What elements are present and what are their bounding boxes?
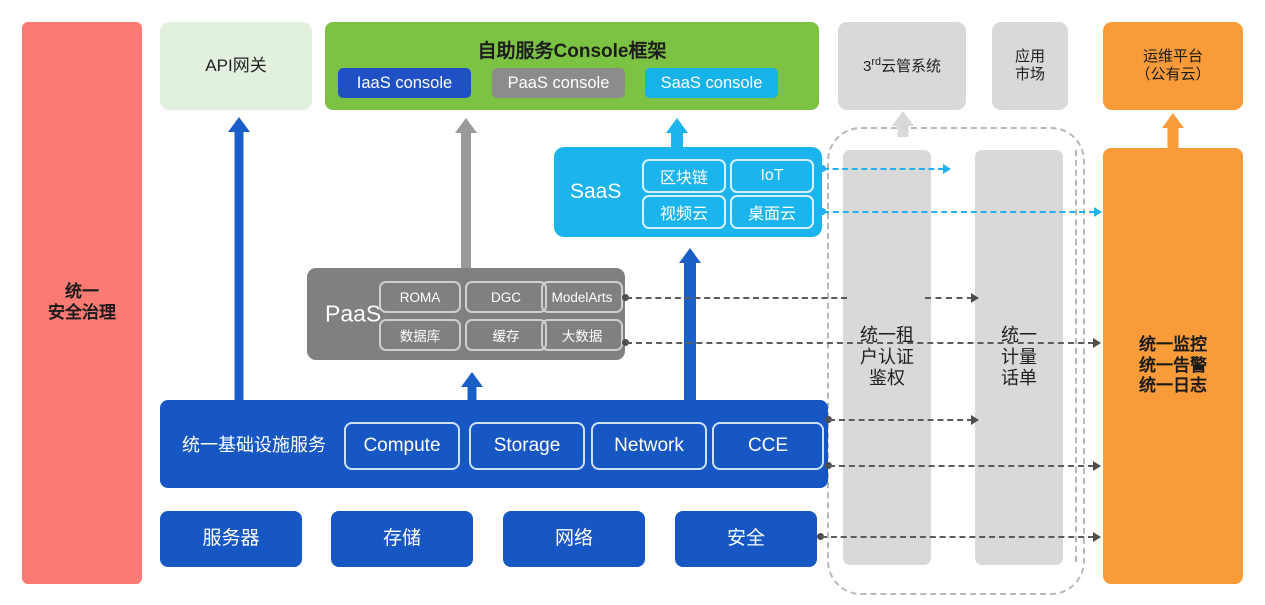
billing-line-3: 话单 [1001,368,1037,390]
app-market-line-2: 市场 [1015,66,1045,84]
saas-service-label: 桌面云 [748,200,796,224]
api-gateway-label: API网关 [205,56,266,77]
arrow-head-icon [943,164,951,174]
arrow-head-icon [1094,207,1102,217]
dashed-line-hardware-to-ops [821,536,1094,538]
saas-console-label: SaaS console [661,74,763,93]
self-service-console-frame: 自助服务Console框架 IaaS console PaaS console … [325,22,819,110]
saas-service-label: 区块链 [660,164,708,188]
infra-service-label: Compute [363,435,440,457]
paas-service-bigdata[interactable]: 大数据 [541,319,623,351]
paas-block-label: PaaS [325,301,381,328]
paas-service-dgc[interactable]: DGC [465,281,547,313]
hardware-label: 安全 [727,527,765,550]
infra-service-cce[interactable]: CCE [712,422,824,470]
ordinal-suffix: rd [871,56,881,68]
infra-service-network[interactable]: Network [591,422,707,470]
dashed-line-paas-to-auth [626,297,847,299]
saas-block-label: SaaS [570,180,621,204]
arrow-saas-to-saas-console [666,118,688,147]
dashed-line-saas-to-ops [823,211,1095,213]
dashed-line-infra-to-billing [829,419,973,421]
arrow-head-icon [971,293,979,303]
infra-service-label: Storage [494,435,561,457]
arrow-infra-to-saas [679,248,701,400]
unified-monitoring-panel: 统一监控 统一告警 统一日志 [1103,148,1243,584]
dashed-line-infra-to-ops [829,465,1094,467]
saas-service-video-cloud[interactable]: 视频云 [642,195,726,229]
saas-block: SaaS 区块链 IoT 视频云 桌面云 [554,147,822,237]
paas-service-roma[interactable]: ROMA [379,281,461,313]
saas-service-blockchain[interactable]: 区块链 [642,159,726,193]
architecture-diagram: 统一 安全治理 API网关 自助服务Console框架 IaaS console… [0,0,1265,605]
unified-infrastructure-services-bar: 统一基础设施服务 Compute Storage Network CCE [160,400,828,488]
arrow-infra-to-paas [461,372,483,400]
auth-line-3: 鉴权 [869,368,905,390]
hardware-label: 网络 [555,527,593,550]
saas-service-label: 视频云 [660,200,708,224]
paas-service-cache[interactable]: 缓存 [465,319,547,351]
paas-block: PaaS ROMA DGC ModelArts 数据库 缓存 大数据 [307,268,625,360]
ops-panel-line-1: 统一监控 [1139,335,1207,356]
arrow-head-icon [971,415,979,425]
api-gateway-box: API网关 [160,22,312,110]
paas-service-label: ModelArts [552,290,613,305]
hardware-server-box: 服务器 [160,511,302,567]
ops-panel-line-2: 统一告警 [1139,356,1207,377]
paas-service-label: 缓存 [493,325,520,345]
infrastructure-label: 统一基础设施服务 [182,431,326,457]
paas-service-label: 数据库 [400,325,441,345]
hardware-storage-box: 存储 [331,511,473,567]
security-line-2: 安全治理 [48,303,116,324]
paas-service-modelarts[interactable]: ModelArts [541,281,623,313]
iaas-console-chip[interactable]: IaaS console [338,68,471,98]
ops-platform-line-1: 运维平台 [1143,48,1203,66]
saas-service-desktop-cloud[interactable]: 桌面云 [730,195,814,229]
ops-panel-line-3: 统一日志 [1139,376,1207,397]
arrow-infra-to-api-gateway [228,117,250,400]
app-market-box: 应用 市场 [992,22,1068,110]
hardware-label: 服务器 [202,527,259,550]
hardware-security-box: 安全 [675,511,817,567]
infra-service-label: Network [614,435,684,457]
arrow-head-icon [1093,532,1101,542]
paas-service-label: DGC [491,290,521,305]
dashed-line-auth-to-billing [925,297,973,299]
saas-service-label: IoT [760,167,783,185]
arrow-head-icon [1093,338,1101,348]
auth-line-2: 户认证 [860,347,914,369]
ops-platform-line-2: （公有云） [1135,66,1210,84]
unified-security-governance-panel: 统一 安全治理 [22,22,142,584]
dashed-line-saas-to-auth [823,168,944,170]
third-party-cloud-management-label: 3rd云管系统 [863,56,941,76]
arrow-middleware-to-third-party [892,111,914,137]
dashed-line-paas-to-ops [626,342,1094,344]
infra-service-compute[interactable]: Compute [344,422,460,470]
hardware-network-box: 网络 [503,511,645,567]
infra-service-storage[interactable]: Storage [469,422,585,470]
third-party-cloud-management-box: 3rd云管系统 [838,22,966,110]
saas-service-iot[interactable]: IoT [730,159,814,193]
iaas-console-label: IaaS console [357,74,452,93]
arrow-paas-to-console [455,118,477,268]
saas-console-chip[interactable]: SaaS console [645,68,778,98]
paas-service-database[interactable]: 数据库 [379,319,461,351]
paas-console-label: PaaS console [508,74,610,93]
paas-console-chip[interactable]: PaaS console [492,68,625,98]
billing-line-2: 计量 [1001,347,1037,369]
paas-service-label: ROMA [400,290,441,305]
paas-service-label: 大数据 [562,325,603,345]
ops-platform-public-cloud-box: 运维平台 （公有云） [1103,22,1243,110]
app-market-line-1: 应用 [1015,48,1045,66]
console-frame-title: 自助服务Console框架 [325,36,819,63]
arrow-head-icon [1093,461,1101,471]
hardware-label: 存储 [383,527,421,550]
arrow-ops-panel-to-ops-platform [1162,113,1184,148]
infra-service-label: CCE [748,435,788,457]
security-line-1: 统一 [65,282,99,303]
